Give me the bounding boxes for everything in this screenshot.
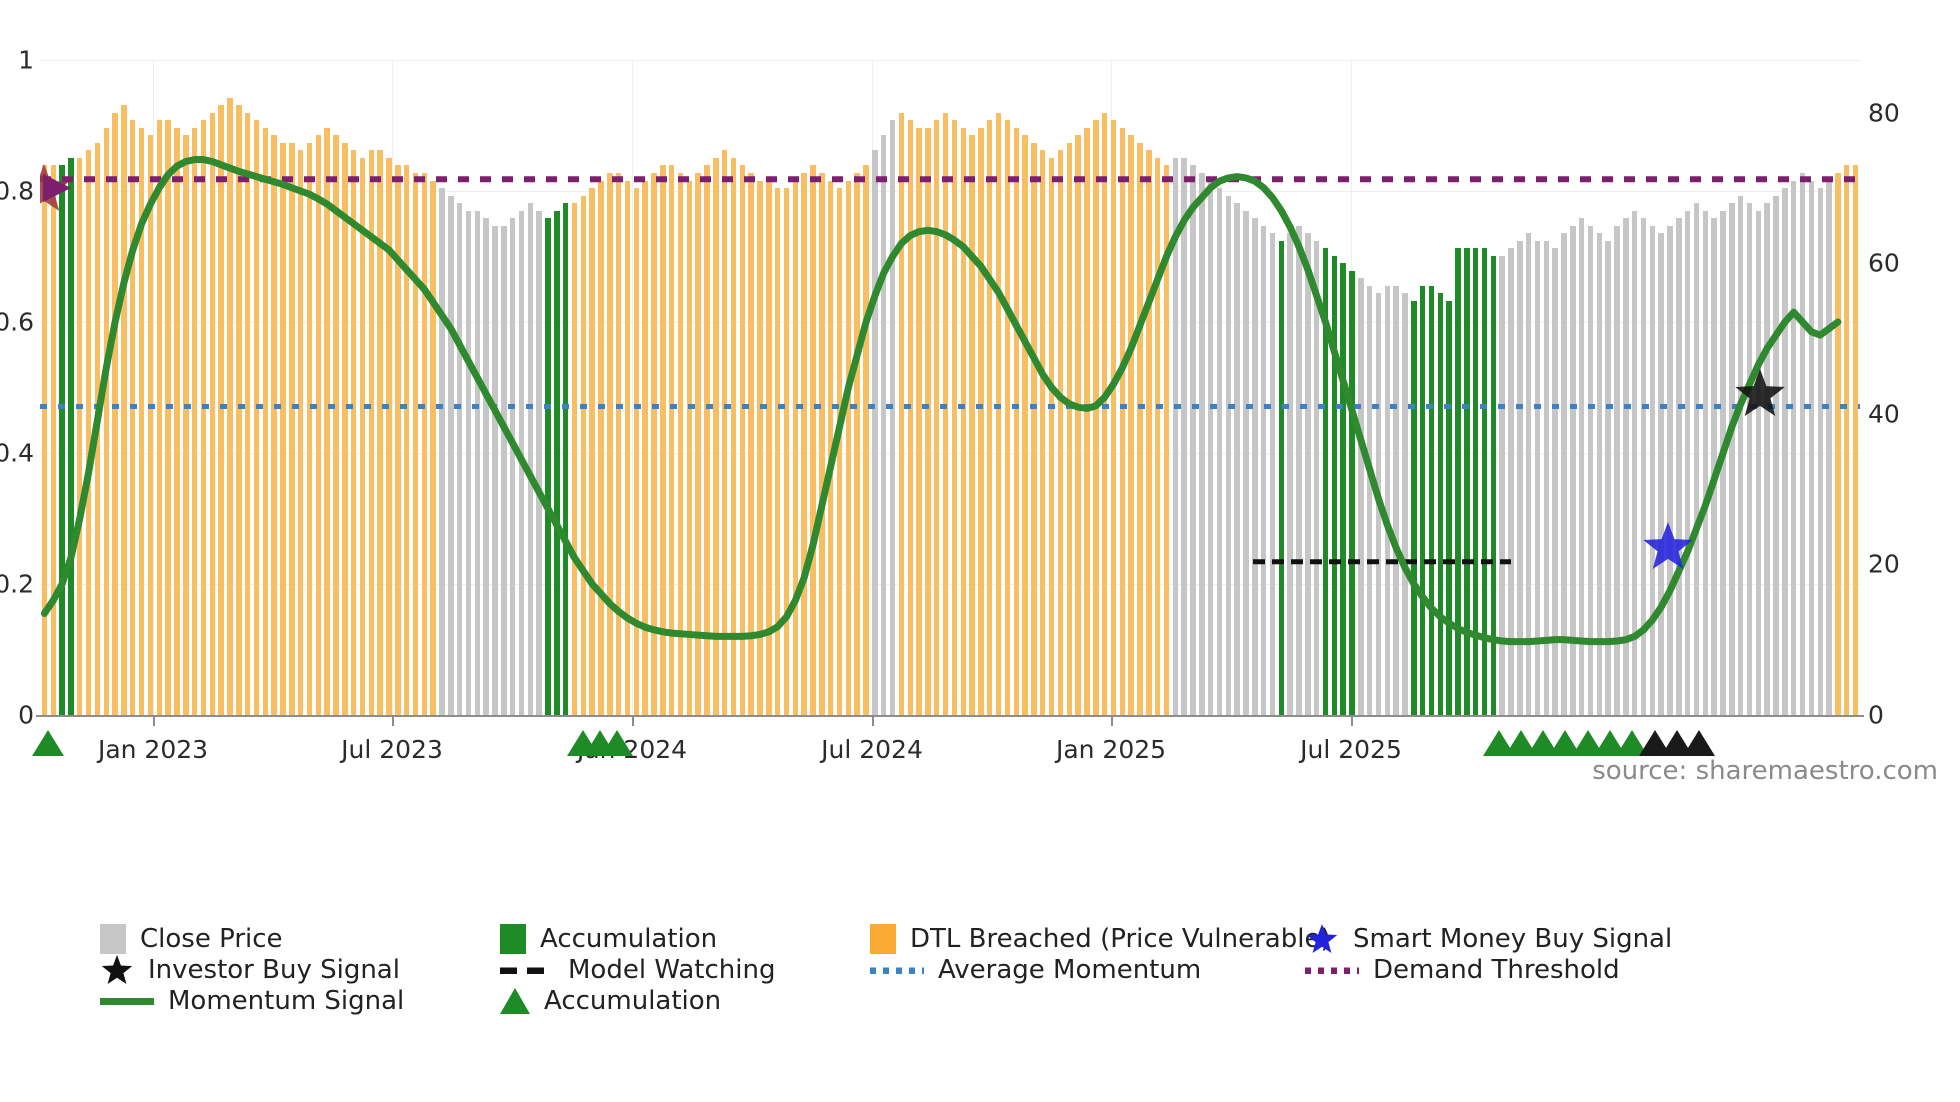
legend-swatch-icon <box>870 924 896 954</box>
legend-item-label: DTL Breached (Price Vulnerable) <box>910 924 1331 954</box>
legend-item-label: Model Watching <box>568 955 775 985</box>
legend-triangle-icon <box>500 988 530 1014</box>
legend-item[interactable]: Average Momentum <box>870 951 1201 989</box>
legend-dashed-line-icon <box>500 966 554 974</box>
overlay-lines <box>40 60 1860 715</box>
accumulation-triangle <box>32 730 64 756</box>
y-axis-left-tick: 0.6 <box>0 308 34 337</box>
accumulation-marker-row <box>40 718 1860 768</box>
y-axis-left-tick: 0.8 <box>0 177 34 206</box>
plot-area <box>40 60 1860 715</box>
legend-item[interactable]: Accumulation <box>500 982 721 1020</box>
investor-buy-signal-star <box>1735 369 1784 416</box>
x-axis-line <box>36 715 1864 717</box>
legend-item-label: Close Price <box>140 924 283 954</box>
y-axis-right: 020406080 <box>1868 60 1958 715</box>
legend-item-label: Average Momentum <box>938 955 1201 985</box>
momentum-signal-line <box>44 160 1837 642</box>
legend-dotted-line-icon <box>870 967 924 974</box>
legend-swatch-icon <box>500 924 526 954</box>
chart-legend: Close PriceAccumulationDTL Breached (Pri… <box>100 920 1900 1070</box>
legend-solid-line-icon <box>100 998 154 1005</box>
y-axis-right-tick: 60 <box>1868 249 1900 278</box>
accumulation-triangle <box>601 730 633 756</box>
legend-item-label: Momentum Signal <box>168 986 404 1016</box>
y-axis-right-tick: 20 <box>1868 550 1900 579</box>
y-axis-right-tick: 0 <box>1868 701 1884 730</box>
y-axis-left-tick: 0.4 <box>0 439 34 468</box>
legend-item-label: Accumulation <box>540 924 717 954</box>
legend-item[interactable]: Momentum Signal <box>100 982 404 1020</box>
source-attribution: source: sharemaestro.com <box>1592 756 1938 786</box>
legend-swatch-icon <box>100 924 126 954</box>
y-axis-right-tick: 80 <box>1868 98 1900 127</box>
y-axis-left: 00.20.40.60.81 <box>0 60 34 715</box>
legend-item-label: Smart Money Buy Signal <box>1353 924 1672 954</box>
y-axis-left-tick: 1 <box>18 46 34 75</box>
legend-item-label: Investor Buy Signal <box>148 955 400 985</box>
y-axis-right-tick: 40 <box>1868 399 1900 428</box>
chart-root: 00.20.40.60.81 020406080 Jan 2023Jul 202… <box>0 0 1960 1102</box>
y-axis-left-tick: 0.2 <box>0 570 34 599</box>
legend-item-label: Accumulation <box>544 986 721 1016</box>
legend-item[interactable]: Demand Threshold <box>1305 951 1620 989</box>
investor-signal-triangle <box>1683 730 1715 756</box>
y-axis-left-tick: 0 <box>18 701 34 730</box>
legend-item-label: Demand Threshold <box>1373 955 1620 985</box>
legend-dotted-line-icon <box>1305 967 1359 974</box>
